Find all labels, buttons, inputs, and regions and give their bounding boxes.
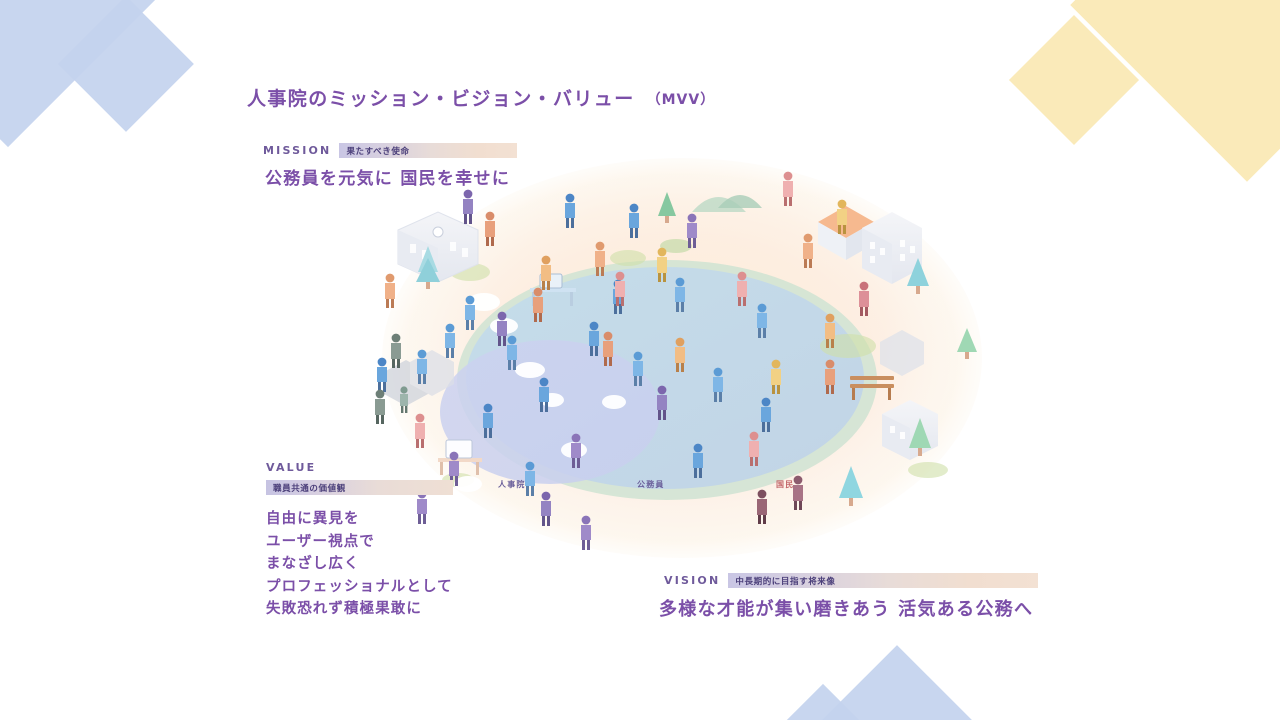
illustration-label-jinjiin: 人事院 xyxy=(498,479,526,490)
value-line: 自由に異見を xyxy=(266,508,453,531)
value-block: VALUE 職員共通の価値観 自由に異見を ユーザー視点で まなざし広く プロフ… xyxy=(266,461,453,621)
decor-square-top-left-large xyxy=(0,0,155,147)
decor-square-top-left-small xyxy=(58,0,194,132)
vision-kicker: VISION xyxy=(664,574,720,587)
vision-block: VISION 中長期的に目指す将来像 多様な才能が集い磨きあう 活気ある公務へ xyxy=(664,573,1038,621)
value-line-list: 自由に異見を ユーザー視点で まなざし広く プロフェッショナルとして 失敗恐れず… xyxy=(266,508,453,621)
ellipse-jinjiin xyxy=(440,340,660,484)
illustration-label-komuin: 公務員 xyxy=(637,479,665,490)
value-line: プロフェッショナルとして xyxy=(266,576,453,599)
value-badge: 職員共通の価値観 xyxy=(266,480,453,495)
vision-badge: 中長期的に目指す将来像 xyxy=(728,573,1038,588)
mission-kicker: MISSION xyxy=(263,144,331,157)
page-title: 人事院のミッション・ビジョン・バリュー（MVV） xyxy=(247,84,715,111)
value-line: ユーザー視点で xyxy=(266,531,453,554)
decor-square-bottom-right-large xyxy=(805,645,989,720)
value-line: 失敗恐れず積極果敢に xyxy=(266,598,453,621)
illustration-label-kokumin: 国民 xyxy=(776,479,794,490)
vision-statement: 多様な才能が集い磨きあう 活気ある公務へ xyxy=(659,595,1038,621)
value-kicker: VALUE xyxy=(266,461,453,474)
decor-square-top-right-small xyxy=(1009,15,1139,145)
page-title-abbreviation: （MVV） xyxy=(647,92,716,108)
mvv-illustration xyxy=(362,150,1002,570)
value-line: まなざし広く xyxy=(266,553,453,576)
vision-kicker-row: VISION 中長期的に目指す将来像 xyxy=(664,573,1038,588)
illustration-canvas xyxy=(362,150,1002,570)
page-title-main: 人事院のミッション・ビジョン・バリュー xyxy=(247,88,635,110)
value-kicker-row: VALUE 職員共通の価値観 xyxy=(266,461,453,495)
decor-square-bottom-right-small xyxy=(768,684,878,720)
decor-square-top-right-large xyxy=(1070,0,1280,182)
